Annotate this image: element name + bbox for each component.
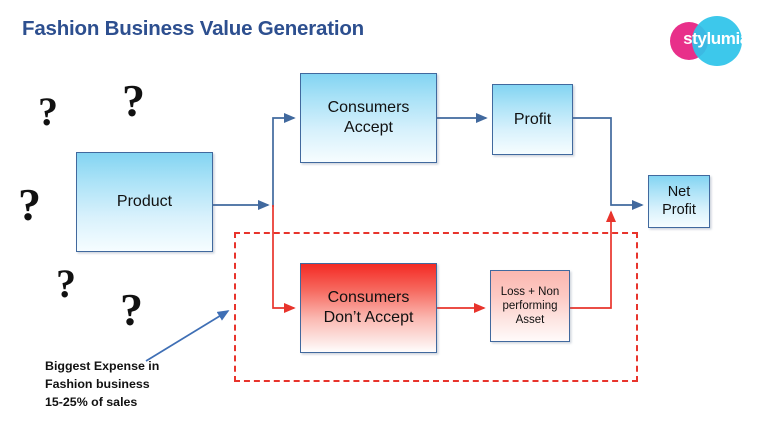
node-consumers-accept-line1: Consumers bbox=[328, 99, 410, 116]
node-loss-non-performing-asset[interactable]: Loss + Non performing Asset bbox=[490, 270, 570, 342]
edge-caption-to-dashed-region bbox=[146, 311, 228, 361]
node-consumers-accept[interactable]: Consumers Accept bbox=[300, 73, 437, 163]
caption-line2: Fashion business bbox=[45, 375, 159, 393]
node-consumers-accept-label: Consumers Accept bbox=[328, 98, 410, 137]
question-mark-icon-4: ? bbox=[56, 264, 76, 304]
node-product[interactable]: Product bbox=[76, 152, 213, 252]
edge-profit-to-net-profit bbox=[573, 118, 642, 205]
question-mark-icon-2: ? bbox=[122, 78, 145, 124]
node-profit-label: Profit bbox=[514, 110, 551, 130]
question-mark-icon-1: ? bbox=[38, 92, 58, 132]
node-consumers-dont-accept[interactable]: Consumers Don’t Accept bbox=[300, 263, 437, 353]
node-consumers-dont-accept-line1: Consumers bbox=[328, 289, 410, 306]
caption-line1: Biggest Expense in bbox=[45, 357, 159, 375]
node-loss-line1: Loss + Non bbox=[501, 286, 560, 298]
edge-junction-to-consumers-accept bbox=[273, 118, 294, 207]
caption-line3: 15-25% of sales bbox=[45, 393, 159, 411]
node-net-profit[interactable]: Net Profit bbox=[648, 175, 710, 228]
node-loss-line2: performing bbox=[503, 300, 558, 312]
node-product-label: Product bbox=[117, 192, 172, 212]
node-profit[interactable]: Profit bbox=[492, 84, 573, 155]
node-loss-label: Loss + Non performing Asset bbox=[501, 285, 560, 327]
node-consumers-dont-accept-label: Consumers Don’t Accept bbox=[324, 288, 414, 327]
logo-wordmark: stylumia bbox=[674, 29, 758, 49]
question-mark-icon-5: ? bbox=[120, 287, 143, 333]
slide-canvas: Fashion Business Value Generation stylum… bbox=[0, 0, 768, 434]
node-net-profit-line2: Profit bbox=[662, 202, 696, 218]
node-net-profit-line1: Net bbox=[668, 184, 691, 200]
node-net-profit-label: Net Profit bbox=[662, 184, 696, 219]
question-mark-icon-3: ? bbox=[18, 182, 41, 228]
node-loss-line3: Asset bbox=[516, 314, 545, 326]
stylumia-logo: stylumia bbox=[668, 14, 762, 66]
node-consumers-dont-accept-line2: Don’t Accept bbox=[324, 309, 414, 326]
page-title: Fashion Business Value Generation bbox=[22, 17, 364, 41]
node-consumers-accept-line2: Accept bbox=[344, 119, 393, 136]
caption-biggest-expense: Biggest Expense in Fashion business 15-2… bbox=[45, 357, 159, 411]
